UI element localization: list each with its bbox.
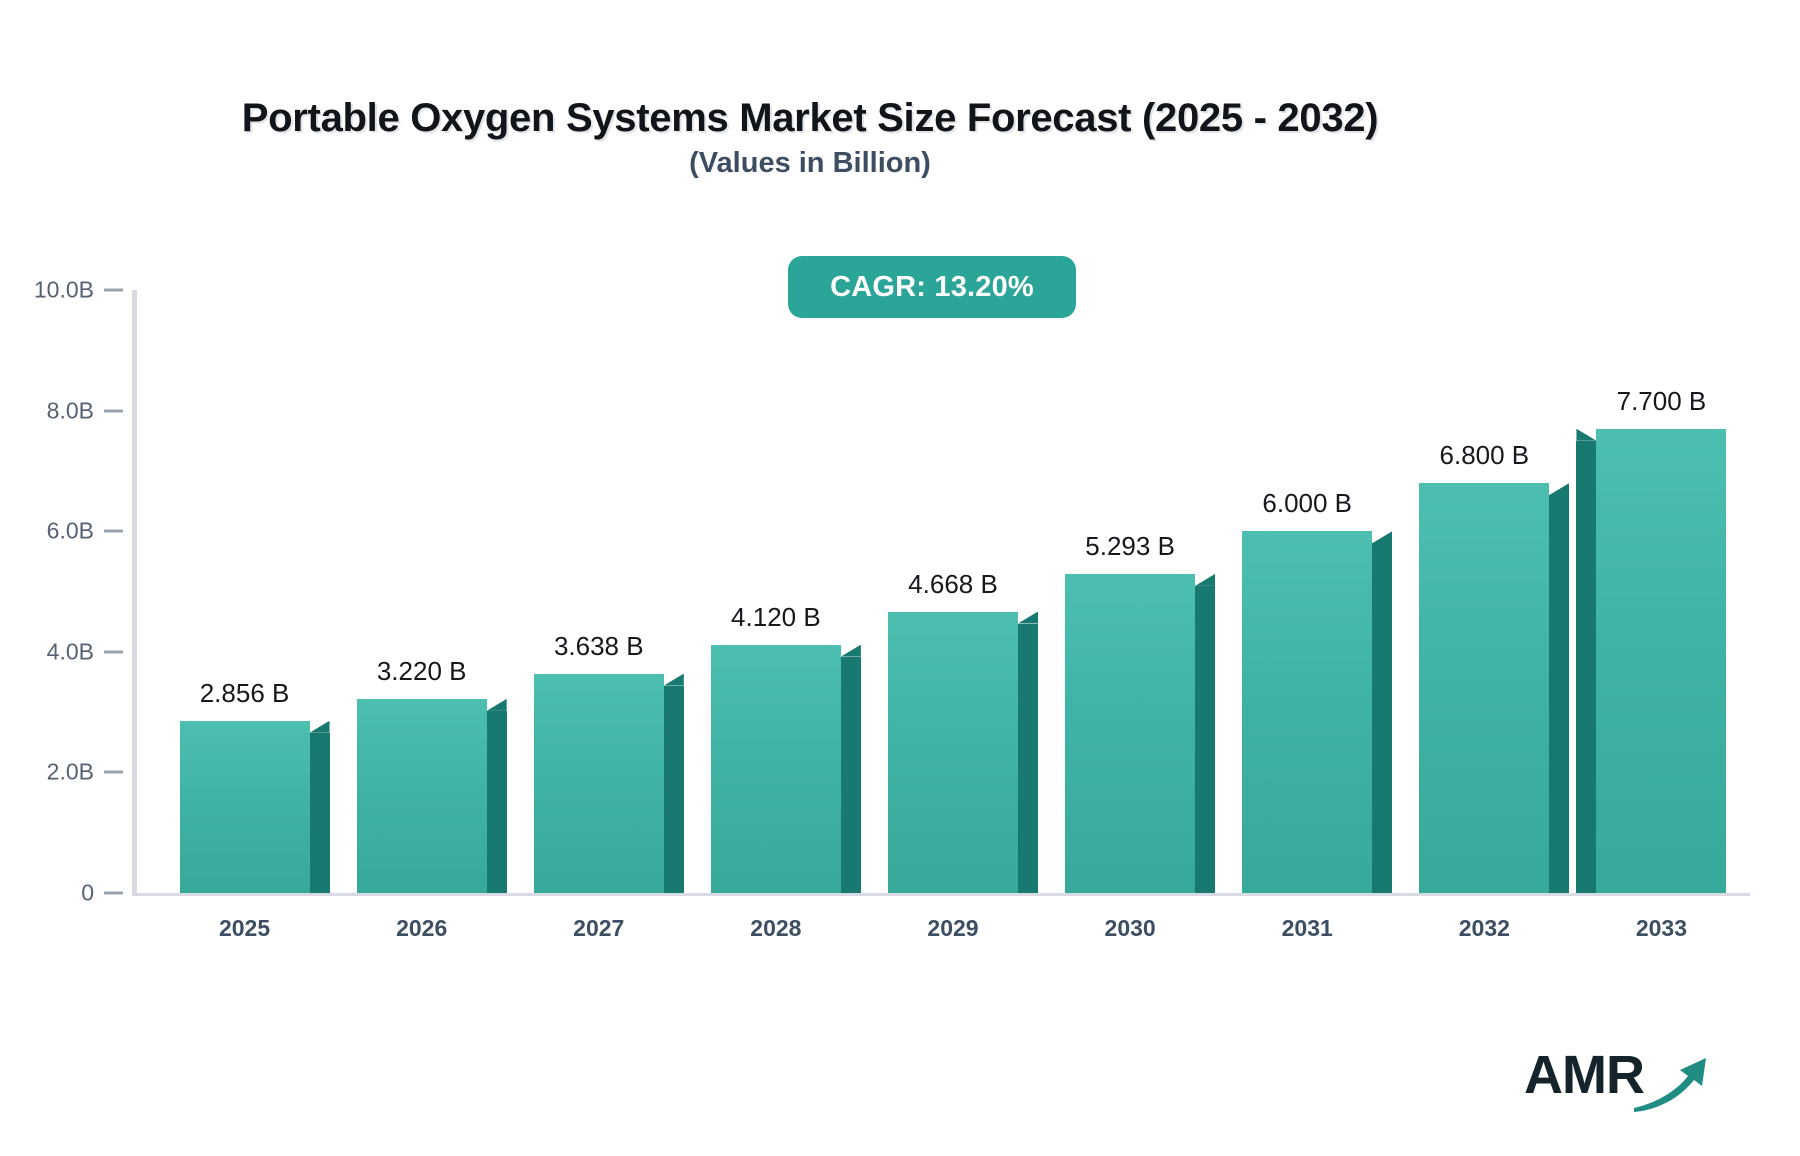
bar-face [888, 612, 1018, 893]
bar-3d-side [1576, 441, 1596, 893]
bar-value-label: 6.000 B [1262, 488, 1352, 519]
y-axis-tick-label: 2.0B [47, 759, 94, 786]
bar-3d-cap [664, 674, 684, 686]
y-axis-tick-label: 10.0B [34, 277, 94, 304]
x-axis-tick-label: 2025 [219, 915, 270, 942]
bar-face [180, 721, 310, 893]
bar-face [711, 645, 841, 893]
bar-face [1419, 483, 1549, 893]
bar-value-label: 2.856 B [200, 678, 290, 709]
y-axis-tick-label: 0 [81, 880, 94, 907]
bar-value-label: 6.800 B [1440, 440, 1530, 471]
chart-page: Portable Oxygen Systems Market Size Fore… [0, 0, 1800, 1156]
x-axis-tick-label: 2030 [1105, 915, 1156, 942]
y-axis-tick-mark [104, 892, 123, 895]
x-axis-tick-label: 2027 [573, 915, 624, 942]
x-axis-tick-label: 2033 [1636, 915, 1687, 942]
bar-3d-side [1372, 543, 1392, 893]
x-axis-tick-label: 2028 [750, 915, 801, 942]
bar-column[interactable]: 2.856 B [180, 721, 310, 893]
bar-value-label: 4.668 B [908, 569, 998, 600]
y-axis-tick-label: 4.0B [47, 638, 94, 665]
y-axis-tick-mark [104, 530, 123, 533]
growth-arrow-icon [1632, 1054, 1714, 1114]
y-axis-tick-mark [104, 409, 123, 412]
bar-3d-side [1549, 495, 1569, 893]
x-axis-line [132, 893, 1750, 896]
bar-column[interactable]: 3.638 B [534, 674, 664, 893]
bar-column[interactable]: 7.700 B [1596, 429, 1726, 893]
bar-3d-side [1018, 624, 1038, 893]
bar-3d-side [487, 711, 507, 893]
bar-column[interactable]: 5.293 B [1065, 574, 1195, 893]
x-axis-tick-label: 2029 [927, 915, 978, 942]
bar-3d-cap [1549, 483, 1569, 495]
bar-value-label: 7.700 B [1617, 386, 1707, 417]
logo-text: AMR [1524, 1044, 1644, 1106]
bar-face [1065, 574, 1195, 893]
bar-3d-side [1195, 586, 1215, 893]
bar-column[interactable]: 6.000 B [1242, 531, 1372, 893]
bar-3d-cap [487, 699, 507, 711]
page-title: Portable Oxygen Systems Market Size Fore… [0, 96, 1620, 141]
bar-column[interactable]: 4.120 B [711, 645, 841, 893]
bar-3d-side [310, 733, 330, 893]
y-axis-tick-mark [104, 289, 123, 292]
x-axis-tick-label: 2032 [1459, 915, 1510, 942]
bar-3d-cap [841, 645, 861, 657]
y-axis-tick-mark [104, 650, 123, 653]
bar-column[interactable]: 3.220 B [357, 699, 487, 893]
x-axis-tick-label: 2031 [1282, 915, 1333, 942]
bar-face [1596, 429, 1726, 893]
amr-logo: AMR [1524, 1040, 1714, 1116]
bar-3d-cap [1018, 612, 1038, 624]
y-axis-line [132, 290, 137, 896]
chart-subtitle: (Values in Billion) [0, 147, 1620, 180]
bar-value-label: 3.638 B [554, 631, 644, 662]
x-axis-tick-label: 2026 [396, 915, 447, 942]
y-axis-tick-mark [104, 771, 123, 774]
y-axis-tick-label: 6.0B [47, 518, 94, 545]
bar-3d-side [841, 657, 861, 893]
bar-3d-cap [1576, 429, 1596, 441]
bar-3d-side [664, 686, 684, 893]
y-axis-tick-label: 8.0B [47, 397, 94, 424]
bar-value-label: 3.220 B [377, 656, 467, 687]
bar-face [534, 674, 664, 893]
bar-column[interactable]: 6.800 B [1419, 483, 1549, 893]
bar-face [357, 699, 487, 893]
bar-3d-cap [310, 721, 330, 733]
bar-value-label: 5.293 B [1085, 531, 1175, 562]
plot-area: 2.856 B20253.220 B20263.638 B20274.120 B… [132, 290, 1750, 896]
bar-value-label: 4.120 B [731, 602, 821, 633]
bar-column[interactable]: 4.668 B [888, 612, 1018, 893]
bar-face [1242, 531, 1372, 893]
bar-3d-cap [1195, 574, 1215, 586]
bar-3d-cap [1372, 531, 1392, 543]
